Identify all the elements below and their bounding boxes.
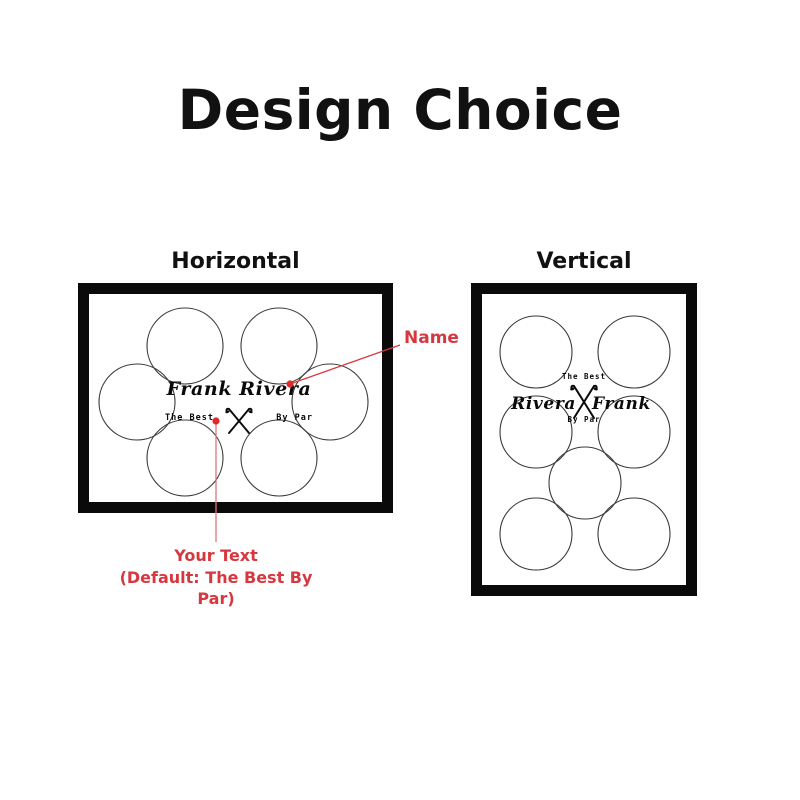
circle-wells-vertical (482, 294, 686, 585)
circle-well (549, 447, 621, 519)
plate-surface-vertical: The Best Frank (482, 294, 686, 585)
annotation-name-label: Name (404, 328, 459, 348)
crossed-golf-clubs-icon (222, 406, 256, 440)
circle-well (147, 420, 223, 496)
option-label-horizontal: Horizontal (78, 249, 393, 274)
annotation-your-text-line1: Your Text (100, 545, 332, 567)
logo-tagline-right: By Par (276, 413, 313, 423)
circle-well (598, 316, 670, 388)
circle-well (598, 498, 670, 570)
logo-tagline-top: The Best (562, 372, 606, 381)
logo-tagline-bottom: By Par (567, 415, 600, 424)
option-label-vertical: Vertical (471, 249, 697, 274)
circle-well (500, 498, 572, 570)
logo-script-right: Rivera (511, 394, 576, 414)
circle-well (147, 308, 223, 384)
logo-horizontal: Frank Rivera The Best (159, 380, 319, 430)
annotation-your-text: Your Text (Default: The Best By Par) (100, 545, 332, 610)
logo-tagline-left: The Best (165, 413, 214, 423)
plate-surface-horizontal: Frank Rivera The Best (89, 294, 382, 502)
design-option-horizontal[interactable]: Frank Rivera The Best (78, 283, 393, 513)
design-option-vertical[interactable]: The Best Frank (471, 283, 697, 596)
page-title: Design Choice (0, 82, 800, 140)
design-choice-canvas: Design Choice Horizontal Frank Rivera Th… (0, 0, 800, 800)
logo-script-name: Frank Rivera (159, 380, 319, 399)
annotation-your-text-line2: (Default: The Best By Par) (100, 567, 332, 610)
logo-tagline-row: The Best (159, 408, 319, 430)
